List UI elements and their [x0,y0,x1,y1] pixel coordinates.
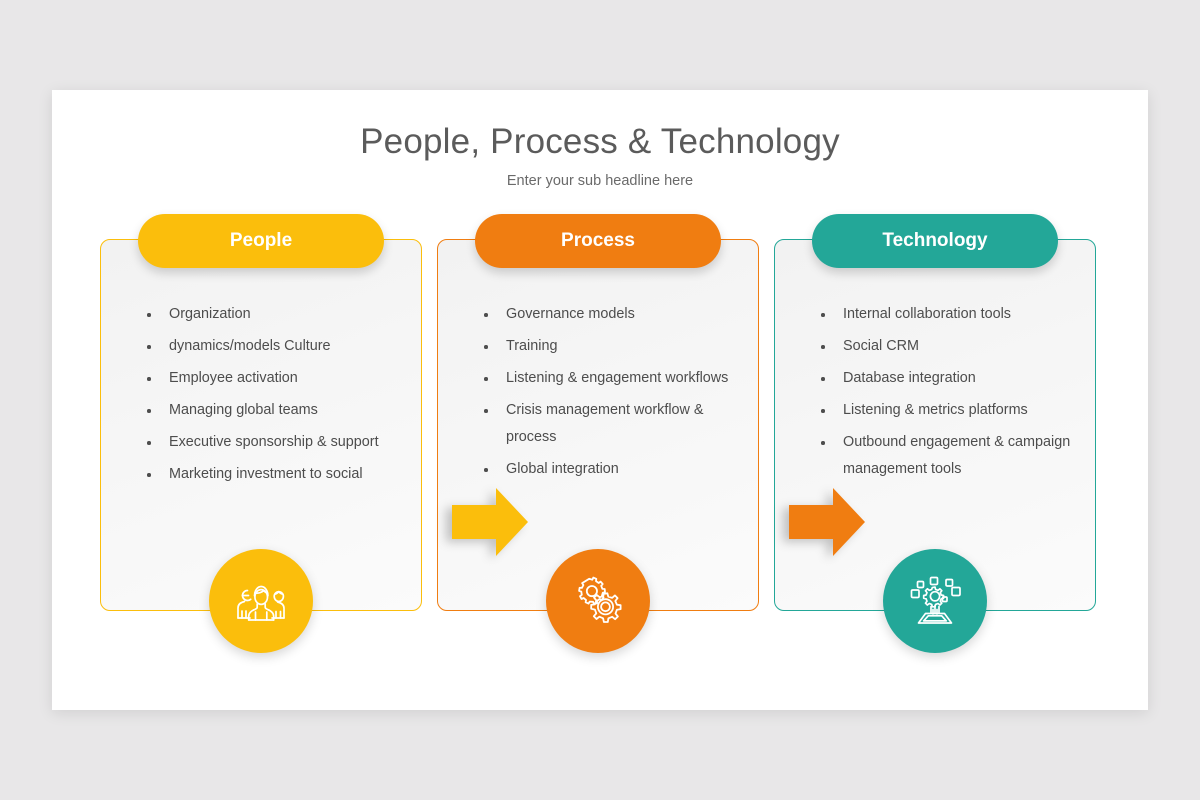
list-item: Database integration [820,365,1086,392]
list-item: Listening & metrics platforms [820,397,1086,424]
list-item: Global integration [483,456,749,483]
list-item: Marketing investment to social [146,461,412,488]
list-item: Managing global teams [146,397,412,424]
pill-technology[interactable]: Technology [812,214,1058,268]
page-title: People, Process & Technology [52,122,1148,162]
pill-process[interactable]: Process [475,214,721,268]
list-item: dynamics/models Culture [146,333,412,360]
pill-people[interactable]: People [138,214,384,268]
badge-technology [883,549,987,653]
page-subtitle: Enter your sub headline here [52,173,1148,189]
gears-icon [570,573,626,629]
list-item: Crisis management workflow & process [483,397,749,451]
list-item: Organization [146,301,412,328]
pill-process-label: Process [561,230,635,252]
list-item: Governance models [483,301,749,328]
list-item: Training [483,333,749,360]
tablet-data-gear-icon [906,575,964,627]
list-item: Employee activation [146,365,412,392]
people-group-icon [233,578,289,624]
list-item: Internal collaboration tools [820,301,1086,328]
pill-technology-label: Technology [882,230,987,252]
arrow-process-to-technology [789,488,865,556]
list-item: Social CRM [820,333,1086,360]
column-people: People Organization dynamics/models Cult… [100,239,422,611]
bullet-list-process: Governance models Training Listening & e… [483,301,749,488]
list-item: Executive sponsorship & support [146,429,412,456]
list-item: Outbound engagement & campaign managemen… [820,429,1086,483]
badge-process [546,549,650,653]
pill-people-label: People [230,230,292,252]
arrow-people-to-process [452,488,528,556]
list-item: Listening & engagement workflows [483,365,749,392]
slide-canvas: People, Process & Technology Enter your … [52,90,1148,710]
bullet-list-technology: Internal collaboration tools Social CRM … [820,301,1086,488]
badge-people [209,549,313,653]
bullet-list-people: Organization dynamics/models Culture Emp… [146,301,412,493]
